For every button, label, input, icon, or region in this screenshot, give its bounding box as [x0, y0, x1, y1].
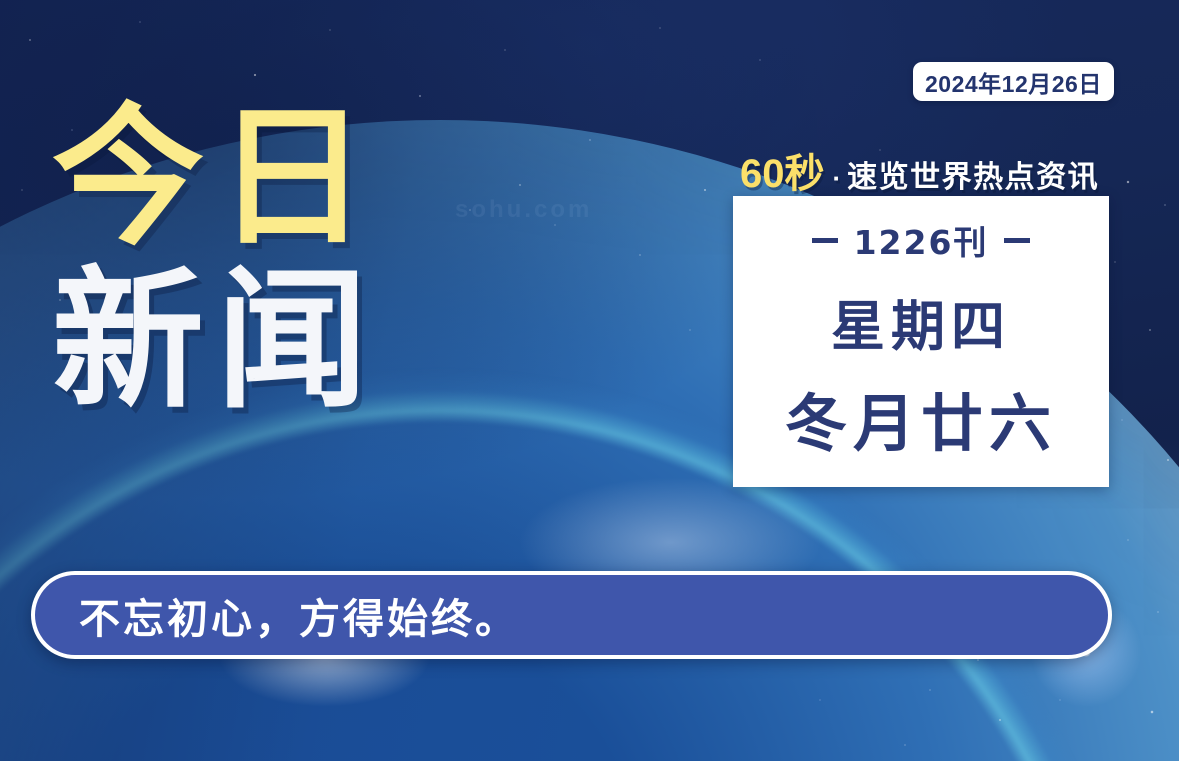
page-title-line-2: 新闻	[52, 267, 380, 416]
tagline-highlight: 60秒	[740, 141, 825, 199]
dash-right-icon	[1004, 238, 1030, 243]
tagline-text: 速览世界热点资讯	[847, 152, 1099, 196]
page-title-line-1: 今日	[52, 104, 380, 253]
issue-number-row: 1226刊	[812, 216, 1031, 264]
watermark: sohu.com	[455, 196, 592, 224]
tagline-separator: ·	[833, 163, 842, 194]
issue-card: 1226刊 星期四 冬月廿六	[733, 196, 1109, 487]
lunar-date-label: 冬月廿六	[785, 373, 1057, 463]
issue-number: 1226刊	[854, 216, 989, 264]
weekday-label: 星期四	[831, 282, 1011, 361]
dash-left-icon	[812, 238, 838, 243]
news-poster: sohu.com 今日 新闻 2024年12月26日 60秒 · 速览世界热点资…	[0, 0, 1179, 761]
tagline: 60秒 · 速览世界热点资讯	[740, 141, 1099, 199]
date-badge: 2024年12月26日	[913, 62, 1114, 101]
page-title: 今日 新闻	[52, 104, 380, 416]
quote-banner: 不忘初心，方得始终。	[31, 571, 1112, 659]
quote-text: 不忘初心，方得始终。	[79, 585, 519, 645]
